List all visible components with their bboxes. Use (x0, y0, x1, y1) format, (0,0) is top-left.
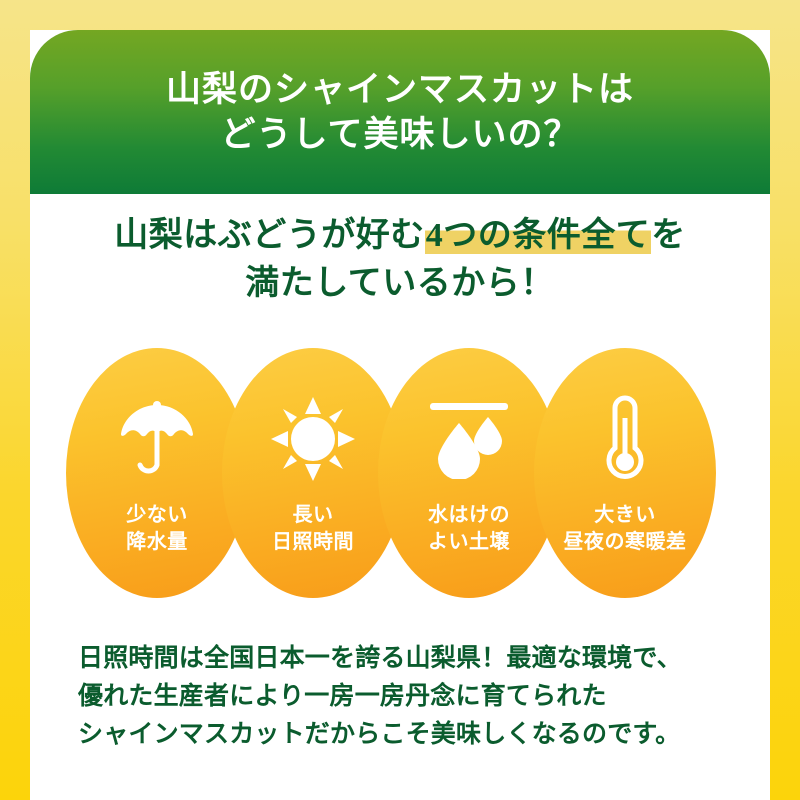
subheadline-line2: 満たしているから！ (30, 260, 770, 308)
feature-label-line1: 長い (272, 502, 354, 529)
subheadline-text-before: 山梨はぶどうが好む (114, 217, 425, 254)
paragraph-line1: 日照時間は全国日本一を誇る山梨県！最適な環境で、 (78, 640, 738, 678)
feature-oval-temperature: 大きい 昼夜の寒暖差 (534, 348, 716, 598)
feature-label-line1: 大きい (564, 502, 687, 529)
header-title-line1: 山梨のシャインマスカットは (166, 69, 634, 110)
feature-label-line1: 水はけの (428, 502, 510, 529)
feature-label-line2: 日照時間 (272, 529, 354, 556)
infographic-page: 山梨のシャインマスカットは どうして美味しいの？ 山梨はぶどうが好む4つの条件全… (0, 0, 800, 800)
feature-label-soil: 水はけの よい土壌 (428, 502, 510, 556)
subheadline-line1: 山梨はぶどうが好む4つの条件全てを (30, 212, 770, 260)
feature-label-line2: よい土壌 (428, 529, 510, 556)
description-paragraph: 日照時間は全国日本一を誇る山梨県！最適な環境で、 優れた生産者により一房一房丹念… (78, 640, 738, 754)
subheadline-text-after: を (651, 217, 686, 254)
feature-label-temperature: 大きい 昼夜の寒暖差 (564, 502, 687, 556)
feature-oval-sunshine: 長い 日照時間 (222, 348, 404, 598)
feature-oval-soil: 水はけの よい土壌 (378, 348, 560, 598)
paragraph-line3: シャインマスカットだからこそ美味しくなるのです。 (78, 716, 738, 754)
paragraph-line2: 優れた生産者により一房一房丹念に育てられた (78, 678, 738, 716)
header-banner: 山梨のシャインマスカットは どうして美味しいの？ (30, 30, 770, 194)
sun-icon (271, 396, 355, 482)
feature-label-line2: 降水量 (126, 529, 188, 556)
umbrella-icon (118, 396, 196, 482)
subheadline-highlight: 4つの条件全て (425, 217, 652, 254)
feature-oval-rainfall: 少ない 降水量 (66, 348, 248, 598)
feature-label-sunshine: 長い 日照時間 (272, 502, 354, 556)
feature-label-line1: 少ない (126, 502, 188, 529)
subheadline: 山梨はぶどうが好む4つの条件全てを 満たしているから！ (30, 212, 770, 309)
feature-label-rainfall: 少ない 降水量 (126, 502, 188, 556)
water-drainage-icon (426, 396, 512, 482)
header-title-line2: どうして美味しいの？ (221, 114, 580, 155)
feature-oval-row: 少ない 降水量 (30, 348, 770, 598)
feature-label-line2: 昼夜の寒暖差 (564, 529, 687, 556)
thermometer-icon (595, 396, 655, 482)
